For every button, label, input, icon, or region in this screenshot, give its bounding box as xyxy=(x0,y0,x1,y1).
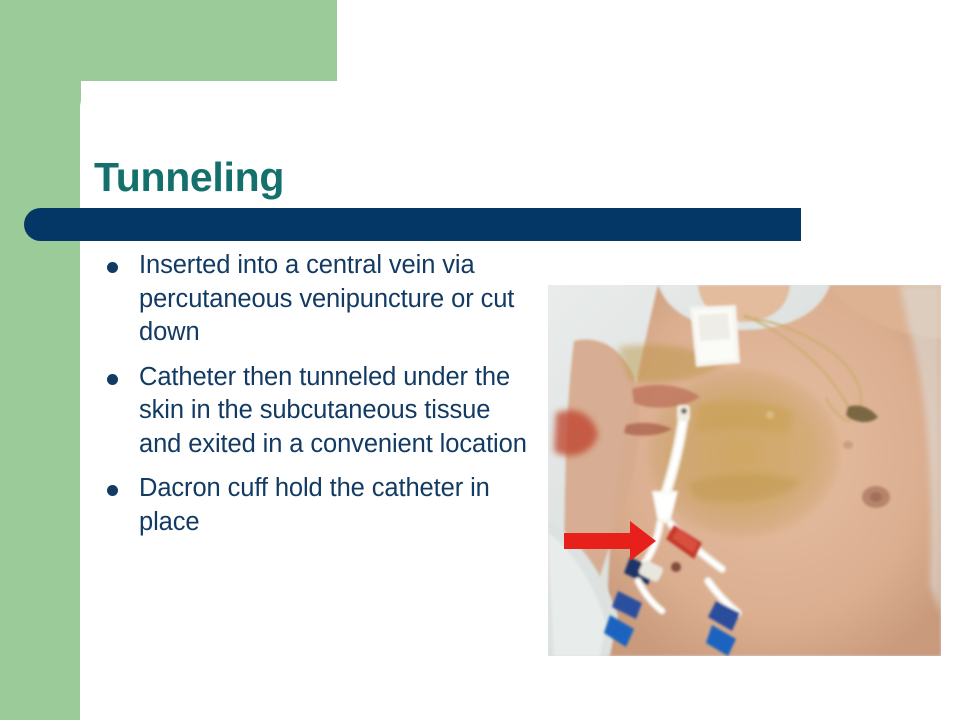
list-item-text: Catheter then tunneled under the skin in… xyxy=(139,363,527,458)
list-item: Dacron cuff hold the catheter in place xyxy=(104,472,534,539)
bullet-list: Inserted into a central vein via percuta… xyxy=(104,249,534,539)
clinical-photo xyxy=(548,285,941,656)
bullet-dot-icon xyxy=(107,485,118,496)
presentation-slide: Tunneling Inserted into a central vein v… xyxy=(0,0,960,720)
bullet-dot-icon xyxy=(107,374,118,385)
list-item-text: Dacron cuff hold the catheter in place xyxy=(139,474,490,536)
title-divider-bar xyxy=(24,208,801,241)
decorative-green-strip-left xyxy=(0,0,81,720)
clinical-photo-graphic xyxy=(548,285,941,656)
list-item: Inserted into a central vein via percuta… xyxy=(104,249,534,350)
list-item-text: Inserted into a central vein via percuta… xyxy=(139,251,514,346)
page-title: Tunneling xyxy=(94,156,284,199)
bullet-dot-icon xyxy=(107,262,118,273)
list-item: Catheter then tunneled under the skin in… xyxy=(104,361,534,462)
